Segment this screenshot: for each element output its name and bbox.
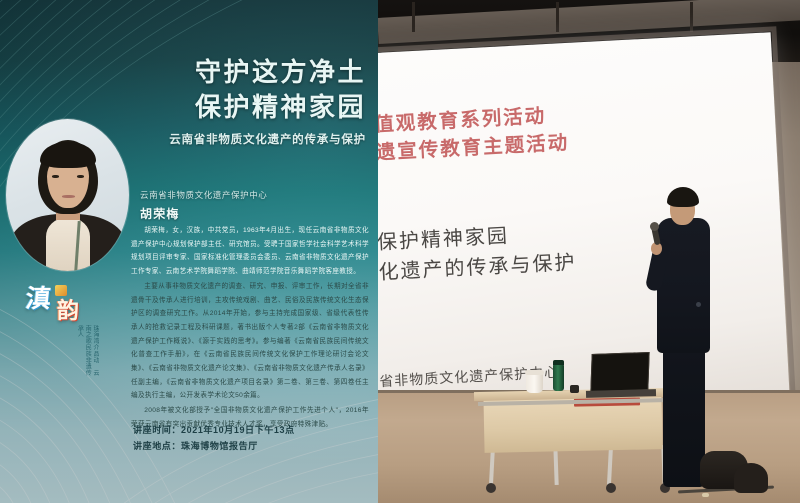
slide-main-title: 保护精神家园 化遗产的传承与保护 bbox=[378, 218, 577, 288]
presenter-legs bbox=[663, 347, 705, 487]
lecture-poster: 守护这方净土 保护精神家园 云南省非物质文化遗产的传承与保护 云南省非物质文化遗… bbox=[0, 0, 378, 503]
portrait-eye-right bbox=[77, 175, 84, 178]
laptop-screen bbox=[590, 352, 649, 392]
lecture-time-value: 2021年10月19日下午13点 bbox=[181, 425, 295, 435]
presenter-torso bbox=[657, 218, 710, 353]
bio-paragraph: 胡荣梅，女，汉族，中共党员，1963年4月出生，现任云南省非物质文化遗产保护中心… bbox=[131, 224, 369, 279]
lecture-time-row: 讲座时间：2021年10月19日下午13点 bbox=[133, 422, 295, 439]
lecture-time-label: 讲座时间： bbox=[133, 425, 181, 435]
speaker-organization: 云南省非物质文化遗产保护中心 bbox=[140, 189, 267, 201]
headline-subtitle: 云南省非物质文化遗产的传承与保护 bbox=[116, 131, 366, 147]
logo-vertical-text: 珠海湾介品动 云南之歌民族非遗传承人 bbox=[54, 325, 98, 381]
screenshot-root: 守护这方净土 保护精神家园 云南省非物质文化遗产的传承与保护 云南省非物质文化遗… bbox=[0, 0, 800, 503]
ceiling-beam bbox=[690, 2, 693, 32]
portrait-eye-left bbox=[52, 175, 59, 178]
logo-glyphs: 滇 韵 bbox=[24, 279, 94, 323]
logo-glyph-dian: 滇 bbox=[24, 279, 53, 315]
headline-line-2: 保护精神家园 bbox=[116, 91, 366, 126]
presenter-jacket-button bbox=[696, 302, 701, 307]
speaker-name: 胡荣梅 bbox=[140, 205, 180, 222]
thermos-cap bbox=[553, 360, 564, 365]
small-desk-object bbox=[570, 385, 579, 393]
thermos-bottle bbox=[553, 363, 564, 391]
portrait-shirt bbox=[46, 218, 90, 271]
bio-paragraph: 主要从事非物质文化遗产的调查、研究、申报、评审工作，长期对全省非遗骨干及传承人进… bbox=[131, 280, 369, 403]
slide-red-heading: 价值观教育系列活动 非遗宣传教育主题活动 bbox=[378, 101, 570, 169]
lecture-place-label: 讲座地点： bbox=[133, 441, 181, 451]
lecture-place-row: 讲座地点：珠海博物馆报告厅 bbox=[133, 438, 295, 455]
table-caster bbox=[486, 483, 496, 493]
ceiling-beam bbox=[412, 2, 415, 32]
paper-cup bbox=[526, 373, 543, 393]
table-caster bbox=[606, 483, 616, 493]
portrait-mouth bbox=[62, 195, 75, 198]
floor-marker bbox=[702, 493, 709, 497]
portrait-bangs bbox=[40, 142, 96, 168]
projection-screen: 价值观教育系列活动 非遗宣传教育主题活动 保护精神家园 化遗产的传承与保护 南省… bbox=[378, 32, 789, 414]
poster-headline: 守护这方净土 保护精神家园 云南省非物质文化遗产的传承与保护 bbox=[116, 56, 366, 147]
lecture-place-value: 珠海博物馆报告厅 bbox=[181, 441, 258, 451]
speaker-biography: 胡荣梅，女，汉族，中共党员，1963年4月出生，现任云南省非物质文化遗产保护中心… bbox=[131, 224, 369, 433]
dianyun-logo: 滇 韵 珠海湾介品动 云南之歌民族非遗传承人 bbox=[24, 279, 102, 384]
speaker-portrait bbox=[6, 119, 129, 271]
lecture-photograph: 价值观教育系列活动 非遗宣传教育主题活动 保护精神家园 化遗产的传承与保护 南省… bbox=[378, 0, 800, 503]
paper-cup-lid bbox=[525, 370, 544, 375]
logo-glyph-yun: 韵 bbox=[57, 293, 79, 325]
ceiling-beam bbox=[556, 2, 559, 32]
portrait-photo bbox=[6, 119, 129, 271]
microphone-head bbox=[650, 222, 659, 231]
lecture-details: 讲座时间：2021年10月19日下午13点 讲座地点：珠海博物馆报告厅 bbox=[133, 422, 295, 455]
headline-line-1: 守护这方净土 bbox=[116, 56, 366, 91]
black-bag-secondary bbox=[734, 463, 768, 493]
